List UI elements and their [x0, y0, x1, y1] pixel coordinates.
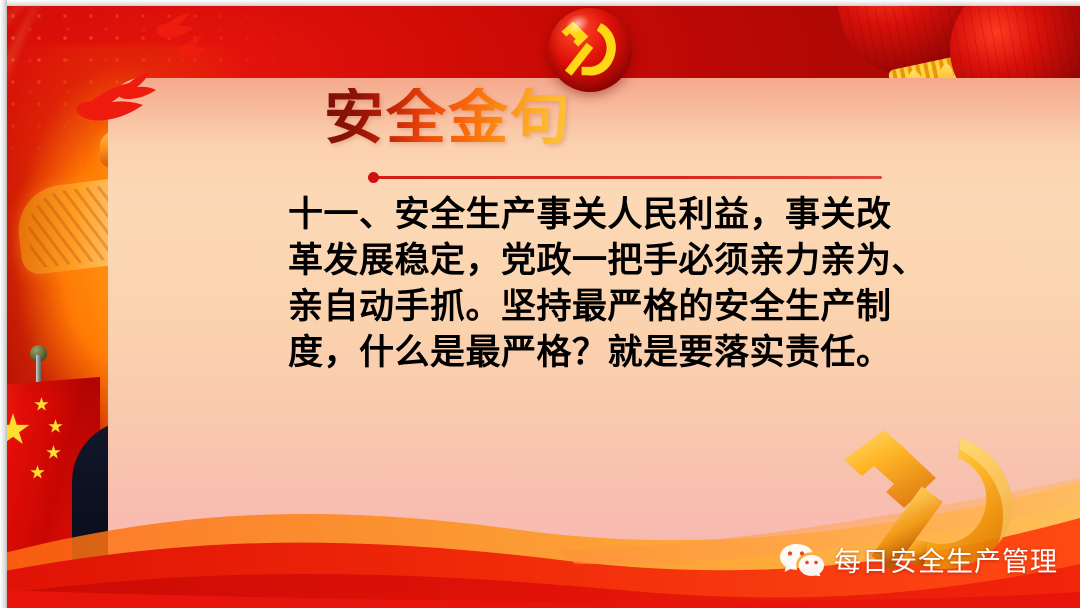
watermark: 每日安全生产管理 [780, 540, 1058, 578]
quote-line: 亲自动手抓。坚持最严格的安全生产制 [288, 284, 938, 330]
quote-line: 十一、安全生产事关人民利益，事关改 [288, 192, 938, 238]
flag-star-small [34, 397, 49, 412]
flag-star-small [48, 419, 63, 434]
slide-canvas: 安全金句 安全金句 十一、安全生产事关人民利益，事关改 革发展稳定，党政一把手必… [0, 0, 1080, 608]
party-emblem-hammer-sickle-icon [548, 8, 632, 92]
panel-top-glow [108, 78, 1080, 198]
quote-line: 度，什么是最严格？就是要落实责任。 [288, 330, 938, 376]
title-rule-dot [368, 172, 379, 183]
left-edge-strip [0, 0, 7, 608]
quote-line: 革发展稳定，党政一把手必须亲力亲为、 [288, 238, 938, 284]
quote-text-block: 十一、安全生产事关人民利益，事关改 革发展稳定，党政一把手必须亲力亲为、 亲自动… [288, 192, 938, 376]
hammer-sickle-glyph [548, 8, 632, 92]
page-title: 安全金句 [324, 88, 572, 148]
watermark-account-name: 每日安全生产管理 [834, 540, 1058, 579]
flying-doves-icon [70, 4, 250, 134]
wechat-icon [780, 542, 824, 576]
flag-star-small [30, 465, 45, 480]
top-edge-strip [0, 0, 1080, 6]
title-rule [372, 176, 882, 179]
flag-star-small [46, 445, 61, 460]
